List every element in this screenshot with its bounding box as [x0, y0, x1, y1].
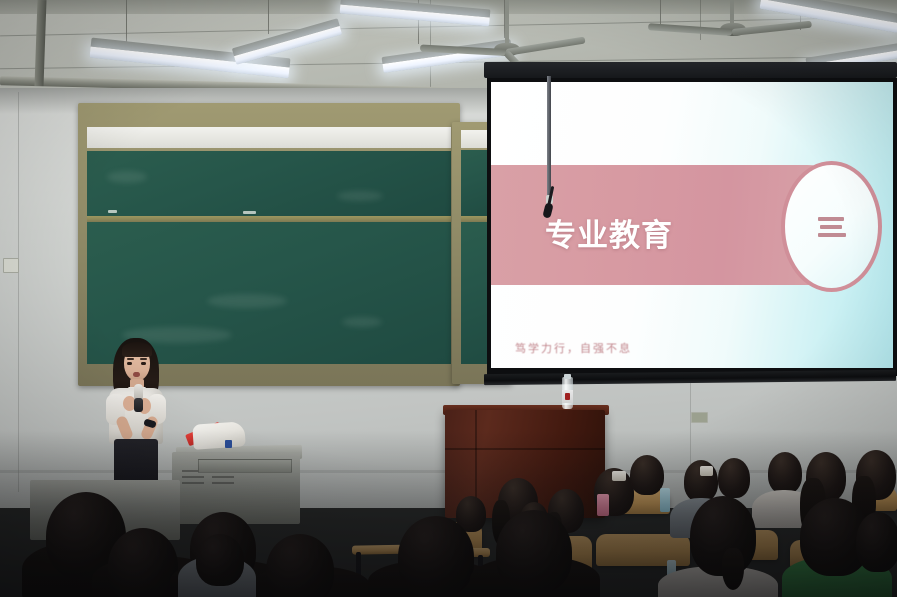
handheld-microphone-body	[134, 398, 143, 412]
slide-title: 专业教育	[545, 210, 673, 255]
chalk-smudge	[337, 191, 383, 201]
student-head	[196, 534, 244, 586]
cabinet-vent	[182, 476, 204, 478]
hair-clip	[700, 466, 713, 476]
projector-screen-housing	[484, 62, 897, 78]
student-head	[496, 510, 572, 594]
slide-footer-motto: 笃学力行，自强不息	[515, 340, 632, 356]
student-head	[768, 452, 802, 494]
chalk-smudge	[207, 294, 287, 308]
presenter-eyebrow	[127, 358, 134, 360]
student-head	[718, 458, 750, 498]
media-cabinet-drawer[interactable]	[198, 459, 292, 473]
podium-seam	[445, 448, 605, 450]
ceiling-seam-4	[700, 0, 701, 40]
chalk-smudge	[107, 171, 147, 183]
wall-switch-box-left[interactable]	[3, 258, 19, 273]
bag-blue-tag	[225, 440, 232, 448]
chalk-piece[interactable]	[108, 210, 117, 213]
white-bag[interactable]	[192, 421, 246, 450]
light-hanger-2	[268, 0, 269, 34]
slide-badge-circle[interactable]	[781, 161, 882, 292]
presenter-eyebrow	[140, 358, 147, 360]
hair-clip	[612, 471, 626, 481]
chalk-piece[interactable]	[243, 211, 256, 214]
student-head	[630, 455, 664, 495]
bottle-logo	[565, 393, 570, 400]
light-hanger-5	[660, 0, 661, 26]
cabinet-vent	[212, 476, 234, 478]
pink-cup[interactable]	[597, 494, 609, 516]
presenter-mouth	[133, 372, 140, 377]
cabinet-vent	[182, 482, 204, 484]
wall-seam-left	[18, 92, 19, 492]
bottle-cap	[564, 374, 571, 379]
cabinet-vent	[212, 482, 234, 484]
student-head	[856, 512, 897, 572]
ceiling-fan-rod-right	[730, 0, 734, 24]
presenter-eye	[127, 362, 132, 365]
chalkboard-panel-upper	[87, 151, 451, 216]
student-head	[398, 516, 474, 597]
student-head	[266, 534, 334, 597]
presenter-hair-fringe	[122, 342, 152, 357]
chalk-smudge	[342, 317, 382, 327]
student-ponytail	[722, 548, 744, 590]
water-bottle[interactable]	[660, 488, 670, 512]
wall-junction-box-right[interactable]	[691, 412, 708, 423]
chalkboard-top-strip	[87, 127, 451, 148]
classroom-photo-scene: 专业教育 笃学力行，自强不息	[0, 0, 897, 597]
student-head	[108, 528, 178, 597]
presenter-eye	[141, 362, 146, 365]
presentation-slide[interactable]: 专业教育 笃学力行，自强不息	[491, 82, 893, 368]
ceiling-fan-rod-left	[505, 0, 509, 44]
hamburger-three-bars-icon	[818, 217, 846, 237]
